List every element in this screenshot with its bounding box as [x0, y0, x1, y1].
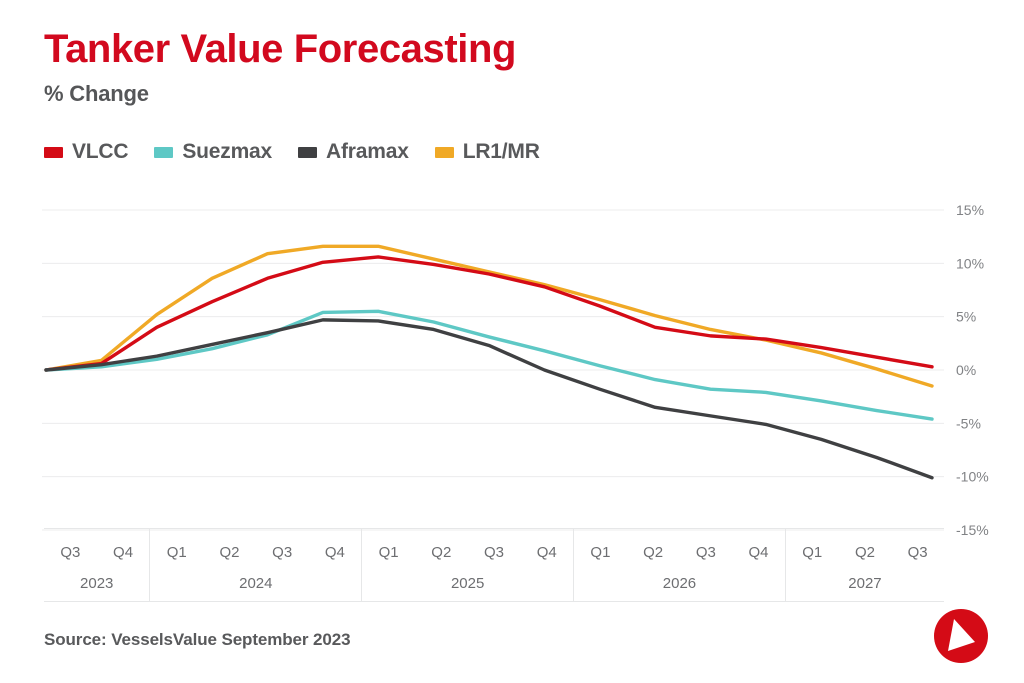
x-tick-label-quarter: Q2	[627, 544, 680, 561]
x-axis-year-group-2025: Q1Q2Q3Q42025	[362, 529, 574, 601]
x-tick-label-quarter: Q2	[203, 544, 256, 561]
quarter-row: Q1Q2Q3Q4	[362, 529, 573, 575]
x-tick-label-year: 2023	[44, 575, 149, 601]
chart-legend: VLCCSuezmaxAframaxLR1/MR	[44, 140, 540, 164]
x-axis: Q3Q42023Q1Q2Q3Q42024Q1Q2Q3Q42025Q1Q2Q3Q4…	[44, 528, 944, 602]
x-axis-year-group-2024: Q1Q2Q3Q42024	[150, 529, 362, 601]
x-tick-label-quarter: Q4	[732, 544, 785, 561]
x-tick-label-quarter: Q4	[520, 544, 573, 561]
legend-swatch-icon	[154, 147, 173, 158]
x-tick-label-quarter: Q3	[891, 544, 944, 561]
legend-swatch-icon	[44, 147, 63, 158]
y-tick-label: -15%	[956, 522, 989, 538]
vesselsvalue-logo-icon	[929, 604, 993, 668]
series-line-suezmax	[46, 311, 932, 419]
x-tick-label-year: 2024	[150, 575, 361, 601]
x-tick-label-quarter: Q1	[574, 544, 627, 561]
x-tick-label-quarter: Q1	[786, 544, 839, 561]
y-tick-label: -5%	[956, 415, 981, 431]
x-tick-label-year: 2026	[574, 575, 785, 601]
x-axis-year-group-2023: Q3Q42023	[44, 529, 150, 601]
y-tick-label: 5%	[956, 309, 976, 325]
legend-item-label: LR1/MR	[463, 140, 540, 164]
legend-item-vlcc[interactable]: VLCC	[44, 140, 128, 164]
x-tick-label-quarter: Q1	[150, 544, 203, 561]
x-tick-label-quarter: Q3	[256, 544, 309, 561]
legend-item-suezmax[interactable]: Suezmax	[154, 140, 272, 164]
chart-plot-area: 15%10%5%0%-5%-10%-15%	[0, 195, 1024, 545]
page-title: Tanker Value Forecasting	[44, 28, 944, 71]
x-axis-year-group-2027: Q1Q2Q32027	[786, 529, 944, 601]
legend-item-label: Suezmax	[182, 140, 272, 164]
x-tick-label-quarter: Q4	[97, 544, 150, 561]
legend-swatch-icon	[298, 147, 317, 158]
quarter-row: Q1Q2Q3Q4	[574, 529, 785, 575]
chart-svg: 15%10%5%0%-5%-10%-15%	[0, 195, 1024, 545]
chart-card: Tanker Value Forecasting % Change VLCCSu…	[0, 0, 1024, 683]
x-tick-label-quarter: Q2	[839, 544, 892, 561]
x-tick-label-quarter: Q3	[44, 544, 97, 561]
x-axis-year-group-2026: Q1Q2Q3Q42026	[574, 529, 786, 601]
quarter-row: Q1Q2Q3Q4	[150, 529, 361, 575]
header: Tanker Value Forecasting % Change	[44, 28, 944, 107]
x-tick-label-quarter: Q4	[309, 544, 362, 561]
legend-swatch-icon	[435, 147, 454, 158]
legend-item-label: VLCC	[72, 140, 128, 164]
y-tick-label: 0%	[956, 362, 976, 378]
quarter-row: Q1Q2Q3	[786, 529, 944, 575]
legend-item-lr1-mr[interactable]: LR1/MR	[435, 140, 540, 164]
y-tick-label: 10%	[956, 255, 984, 271]
quarter-row: Q3Q4	[44, 529, 149, 575]
legend-item-aframax[interactable]: Aframax	[298, 140, 409, 164]
x-tick-label-quarter: Q1	[362, 544, 415, 561]
chart-subtitle: % Change	[44, 81, 944, 107]
x-tick-label-quarter: Q3	[468, 544, 521, 561]
y-tick-label: -10%	[956, 469, 989, 485]
x-tick-label-quarter: Q3	[679, 544, 732, 561]
x-tick-label-quarter: Q2	[415, 544, 468, 561]
source-note: Source: VesselsValue September 2023	[44, 630, 350, 650]
x-tick-label-year: 2025	[362, 575, 573, 601]
x-tick-label-year: 2027	[786, 575, 944, 601]
y-tick-label: 15%	[956, 202, 984, 218]
legend-item-label: Aframax	[326, 140, 409, 164]
